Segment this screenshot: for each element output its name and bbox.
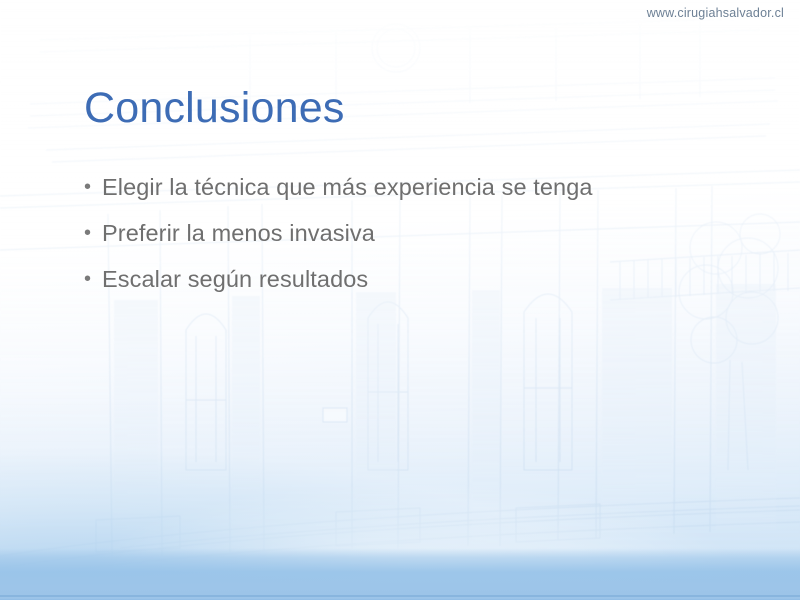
list-item-label: Elegir la técnica que más experiencia se… xyxy=(102,172,593,202)
list-item: • Elegir la técnica que más experiencia … xyxy=(84,172,744,202)
list-item-label: Preferir la menos invasiva xyxy=(102,218,375,248)
bullet-point-icon: • xyxy=(84,218,102,248)
list-item-label: Escalar según resultados xyxy=(102,264,368,294)
bullet-point-icon: • xyxy=(84,172,102,202)
slide-title: Conclusiones xyxy=(84,86,345,131)
presentation-slide: www.cirugiahsalvador.cl Conclusiones • E… xyxy=(0,0,800,600)
list-item: • Preferir la menos invasiva xyxy=(84,218,744,248)
bullet-list: • Elegir la técnica que más experiencia … xyxy=(84,172,744,310)
website-url-label: www.cirugiahsalvador.cl xyxy=(647,6,784,20)
bullet-point-icon: • xyxy=(84,264,102,294)
list-item: • Escalar según resultados xyxy=(84,264,744,294)
bottom-color-band xyxy=(0,548,800,600)
bottom-divider-rule xyxy=(0,595,800,597)
